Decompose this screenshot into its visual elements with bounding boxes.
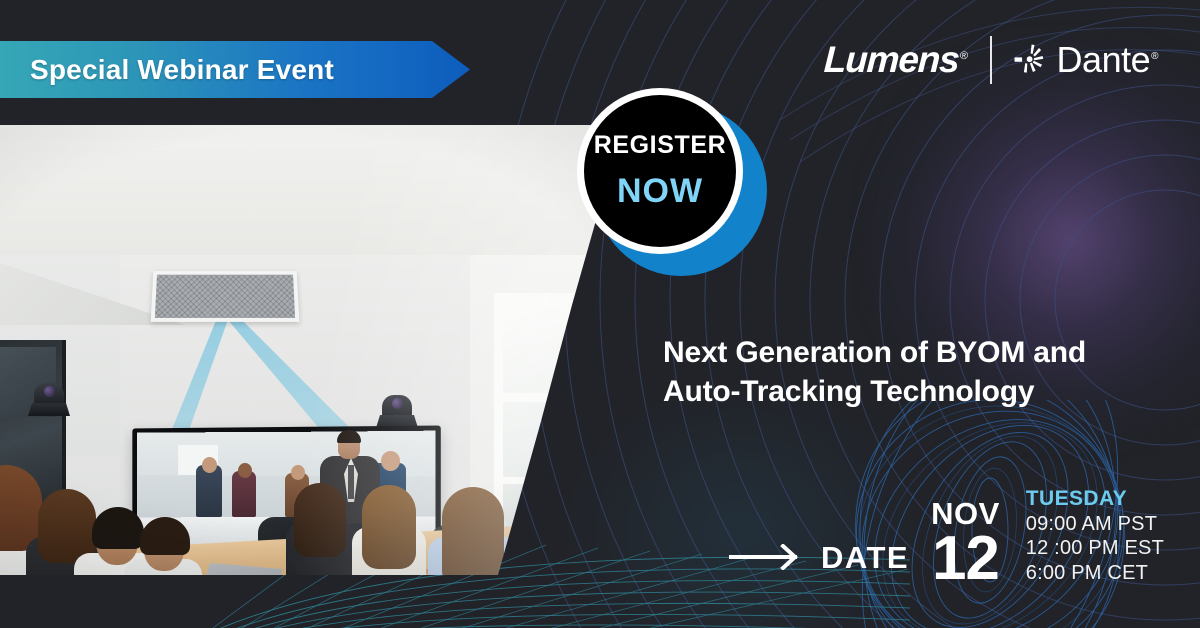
time-cet: 6:00 PM CET [1026,561,1164,585]
time-est: 12 :00 PM EST [1026,536,1164,560]
logo-divider [990,36,992,84]
register-now-badge[interactable]: REGISTER NOW [577,88,767,278]
dante-wordmark-wrap: Dante® [1057,39,1158,81]
dante-logo: Dante® [1014,39,1158,81]
date-label: DATE [821,540,909,576]
window-mullion-horizontal-2 [503,477,720,484]
right-arrow-icon [729,544,803,570]
weekday-label: TUESDAY [1026,487,1164,512]
special-webinar-banner: Special Webinar Event [0,41,470,98]
date-day: 12 [932,530,999,587]
badge-core: REGISTER NOW [584,95,736,247]
date-month-day: NOV 12 [931,499,1000,587]
lumens-wordmark: Lumens [823,39,960,80]
date-times: TUESDAY 09:00 AM PST 12 :00 PM EST 6:00 … [1026,487,1164,585]
badge-white-ring: REGISTER NOW [577,88,743,254]
time-pst: 09:00 AM PST [1026,512,1164,536]
date-block: DATE NOV 12 TUESDAY 09:00 AM PST 12 :00 … [729,487,1164,587]
lumens-trademark: ® [959,50,968,62]
logo-bar: Lumens® Dante® [824,36,1158,84]
dante-trademark: ® [1151,51,1158,62]
chair [552,545,622,575]
headline-line-1: Next Generation of BYOM and [663,336,1086,369]
badge-now-label: NOW [617,172,703,211]
headline-line-2: Auto-Tracking Technology [663,372,1179,411]
dante-wordmark: Dante [1057,39,1151,80]
wall-under-window [470,562,720,575]
badge-register-label: REGISTER [594,131,727,160]
webinar-promo-graphic: Special Webinar Event Lumens® [0,0,1200,628]
window-mullion-vertical [600,302,608,552]
page-title: Next Generation of BYOM and Auto-Trackin… [663,333,1179,411]
banner-label: Special Webinar Event [0,54,334,86]
window-sill [486,545,720,562]
lumens-logo: Lumens® [823,39,969,81]
dante-burst-icon [1014,43,1048,77]
